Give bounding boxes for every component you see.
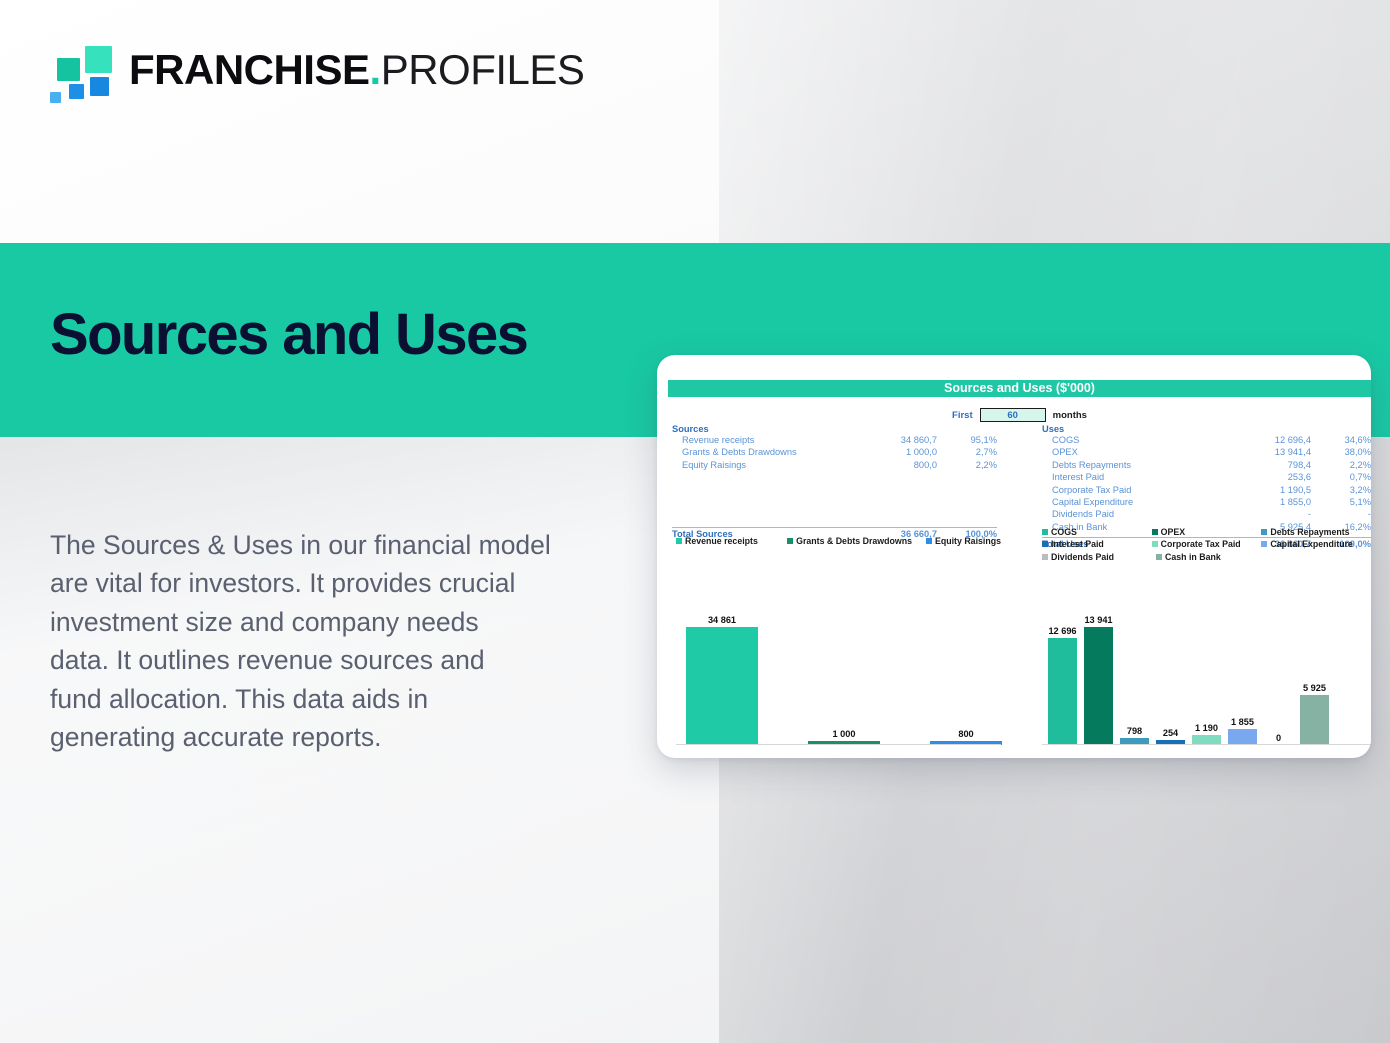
row-label: Equity Raisings <box>672 460 845 472</box>
legend-swatch-icon <box>1042 541 1048 547</box>
logo-square-1 <box>57 58 80 81</box>
row-percent: 5,1% <box>1311 497 1371 509</box>
legend-label: Equity Raisings <box>935 536 1001 546</box>
row-label: Dividends Paid <box>1042 509 1219 521</box>
bar <box>1048 638 1077 745</box>
legend-label: OPEX <box>1161 527 1185 537</box>
body-paragraph: The Sources & Uses in our financial mode… <box>50 526 620 757</box>
bar-column: 798 <box>1120 592 1149 745</box>
bar-column: 1 855 <box>1228 592 1257 745</box>
table-row: Capital Expenditure 1 855,0 5,1% <box>1042 497 1371 509</box>
row-value: 34 860,7 <box>845 435 937 447</box>
legend-item: Capital Expenditure <box>1261 539 1371 549</box>
logo-mark-icon <box>47 44 113 96</box>
table-row: Dividends Paid - - <box>1042 509 1371 521</box>
legend-swatch-icon <box>1152 529 1158 535</box>
legend-label: Corporate Tax Paid <box>1161 539 1241 549</box>
slide-root: FRANCHISE.PROFILES Sources and Uses The … <box>0 0 1390 1043</box>
sources-axis-line <box>676 744 1001 745</box>
bar-value-label: 1 000 <box>833 729 856 739</box>
legend-swatch-icon <box>1152 541 1158 547</box>
bar <box>1084 627 1113 745</box>
legend-label: Dividends Paid <box>1051 552 1114 562</box>
legend-label: Revenue receipts <box>685 536 758 546</box>
row-label: Revenue receipts <box>672 435 845 447</box>
bar-value-label: 12 696 <box>1048 626 1076 636</box>
bar-column: 12 696 <box>1048 592 1077 745</box>
row-percent: 3,2% <box>1311 485 1371 497</box>
legend-item: Dividends Paid <box>1042 552 1156 562</box>
table-row: COGS 12 696,4 34,6% <box>1042 435 1371 447</box>
brand-wordmark: FRANCHISE.PROFILES <box>129 49 584 91</box>
logo-square-3 <box>90 77 109 96</box>
sources-chart-legend: Revenue receipts Grants & Debts Drawdown… <box>676 536 1001 546</box>
legend-swatch-icon <box>1261 529 1267 535</box>
table-row: Interest Paid 253,6 0,7% <box>1042 472 1371 484</box>
table-row: Equity Raisings 800,0 2,2% <box>672 460 997 472</box>
bar-value-label: 0 <box>1276 733 1281 743</box>
legend-item: Equity Raisings <box>926 536 1001 546</box>
legend-item: Debts Repayments <box>1261 527 1371 537</box>
brand-name-bold: FRANCHISE <box>129 49 370 91</box>
brand-name-light: PROFILES <box>381 49 585 91</box>
logo-square-2 <box>85 46 112 73</box>
period-prefix-label: First <box>952 410 973 421</box>
bar-value-label: 1 190 <box>1195 723 1218 733</box>
legend-label: Interest Paid <box>1051 539 1104 549</box>
row-label: Grants & Debts Drawdowns <box>672 447 845 459</box>
legend-swatch-icon <box>787 538 793 544</box>
row-percent: 34,6% <box>1311 435 1371 447</box>
period-selector-row: First 60 months <box>668 407 1371 423</box>
uses-chart-legend: COGS OPEX Debts Repayments Interest Paid… <box>1042 527 1371 564</box>
bar-column: 254 <box>1156 592 1185 745</box>
row-value: 12 696,4 <box>1219 435 1311 447</box>
row-value: 798,4 <box>1219 460 1311 472</box>
legend-item: Revenue receipts <box>676 536 787 546</box>
legend-item: COGS <box>1042 527 1152 537</box>
row-percent: 38,0% <box>1311 447 1371 459</box>
sources-table: Sources Revenue receipts 34 860,7 95,1% … <box>672 424 997 542</box>
bar <box>1300 695 1329 745</box>
uses-bars: 12 69613 9417982541 1901 85505 925 <box>1042 592 1371 745</box>
bar-column: 34 861 <box>686 605 758 745</box>
row-label: OPEX <box>1042 447 1219 459</box>
table-row: Debts Repayments 798,4 2,2% <box>1042 460 1371 472</box>
row-label: Debts Repayments <box>1042 460 1219 472</box>
bar-value-label: 34 861 <box>708 615 736 625</box>
bar-value-label: 798 <box>1127 726 1142 736</box>
legend-swatch-icon <box>1042 554 1048 560</box>
bar-column: 0 <box>1264 592 1293 745</box>
period-suffix-label: months <box>1053 410 1087 421</box>
uses-header: Uses <box>1042 424 1371 435</box>
table-row: Revenue receipts 34 860,7 95,1% <box>672 435 997 447</box>
bar-column: 1 000 <box>808 605 880 745</box>
bar-value-label: 5 925 <box>1303 683 1326 693</box>
legend-label: Capital Expenditure <box>1270 539 1353 549</box>
legend-label: Debts Repayments <box>1270 527 1349 537</box>
logo-square-4 <box>69 84 84 99</box>
legend-label: Cash in Bank <box>1165 552 1221 562</box>
sources-header: Sources <box>672 424 997 435</box>
legend-item: OPEX <box>1152 527 1262 537</box>
row-value: - <box>1219 509 1311 521</box>
row-label: Capital Expenditure <box>1042 497 1219 509</box>
row-value: 800,0 <box>845 460 937 472</box>
sources-rows: Revenue receipts 34 860,7 95,1% Grants &… <box>672 435 997 472</box>
table-row: OPEX 13 941,4 38,0% <box>1042 447 1371 459</box>
sheet-area: Sources and Uses ($'000) First 60 months… <box>668 380 1371 755</box>
legend-label: Grants & Debts Drawdowns <box>796 536 912 546</box>
legend-swatch-icon <box>1042 529 1048 535</box>
bar-column: 800 <box>930 605 1002 745</box>
table-row: Grants & Debts Drawdowns 1 000,0 2,7% <box>672 447 997 459</box>
row-percent: 2,2% <box>937 460 997 472</box>
bar <box>686 627 758 745</box>
bar-value-label: 800 <box>958 729 973 739</box>
row-label: Corporate Tax Paid <box>1042 485 1219 497</box>
row-percent: - <box>1311 509 1371 521</box>
bar-value-label: 1 855 <box>1231 717 1254 727</box>
sources-bars: 34 8611 000800 <box>676 605 1001 745</box>
row-value: 13 941,4 <box>1219 447 1311 459</box>
bar-value-label: 254 <box>1163 728 1178 738</box>
legend-swatch-icon <box>676 538 682 544</box>
row-value: 253,6 <box>1219 472 1311 484</box>
legend-item: Grants & Debts Drawdowns <box>787 536 926 546</box>
bar <box>1228 729 1257 745</box>
row-value: 1 855,0 <box>1219 497 1311 509</box>
legend-item: Interest Paid <box>1042 539 1152 549</box>
logo-square-5 <box>50 92 61 103</box>
legend-label: COGS <box>1051 527 1077 537</box>
sheet-title: Sources and Uses ($'000) <box>668 380 1371 397</box>
period-months-input[interactable]: 60 <box>980 408 1046 422</box>
sources-spacer <box>672 472 997 524</box>
uses-axis-line <box>1042 744 1371 745</box>
bar-column: 1 190 <box>1192 592 1221 745</box>
page-title: Sources and Uses <box>50 305 527 366</box>
row-percent: 95,1% <box>937 435 997 447</box>
row-percent: 2,2% <box>1311 460 1371 472</box>
legend-swatch-icon <box>926 538 932 544</box>
bar-column: 13 941 <box>1084 592 1113 745</box>
row-value: 1 000,0 <box>845 447 937 459</box>
bar-column: 5 925 <box>1300 592 1329 745</box>
brand-name-dot: . <box>370 49 381 91</box>
legend-swatch-icon <box>1156 554 1162 560</box>
row-value: 1 190,5 <box>1219 485 1311 497</box>
row-label: Interest Paid <box>1042 472 1219 484</box>
bar-value-label: 13 941 <box>1084 615 1112 625</box>
row-label: COGS <box>1042 435 1219 447</box>
legend-item: Corporate Tax Paid <box>1152 539 1262 549</box>
row-percent: 0,7% <box>1311 472 1371 484</box>
sources-bar-chart: 34 8611 000800 <box>676 605 1001 745</box>
table-row: Corporate Tax Paid 1 190,5 3,2% <box>1042 485 1371 497</box>
row-percent: 2,7% <box>937 447 997 459</box>
spreadsheet-card: Sources and Uses ($'000) First 60 months… <box>657 355 1371 758</box>
uses-bar-chart: 12 69613 9417982541 1901 85505 925 <box>1042 592 1371 745</box>
legend-swatch-icon <box>1261 541 1267 547</box>
brand-logo: FRANCHISE.PROFILES <box>47 44 584 96</box>
uses-rows: COGS 12 696,4 34,6% OPEX 13 941,4 38,0% … <box>1042 435 1371 534</box>
legend-item: Cash in Bank <box>1156 552 1270 562</box>
